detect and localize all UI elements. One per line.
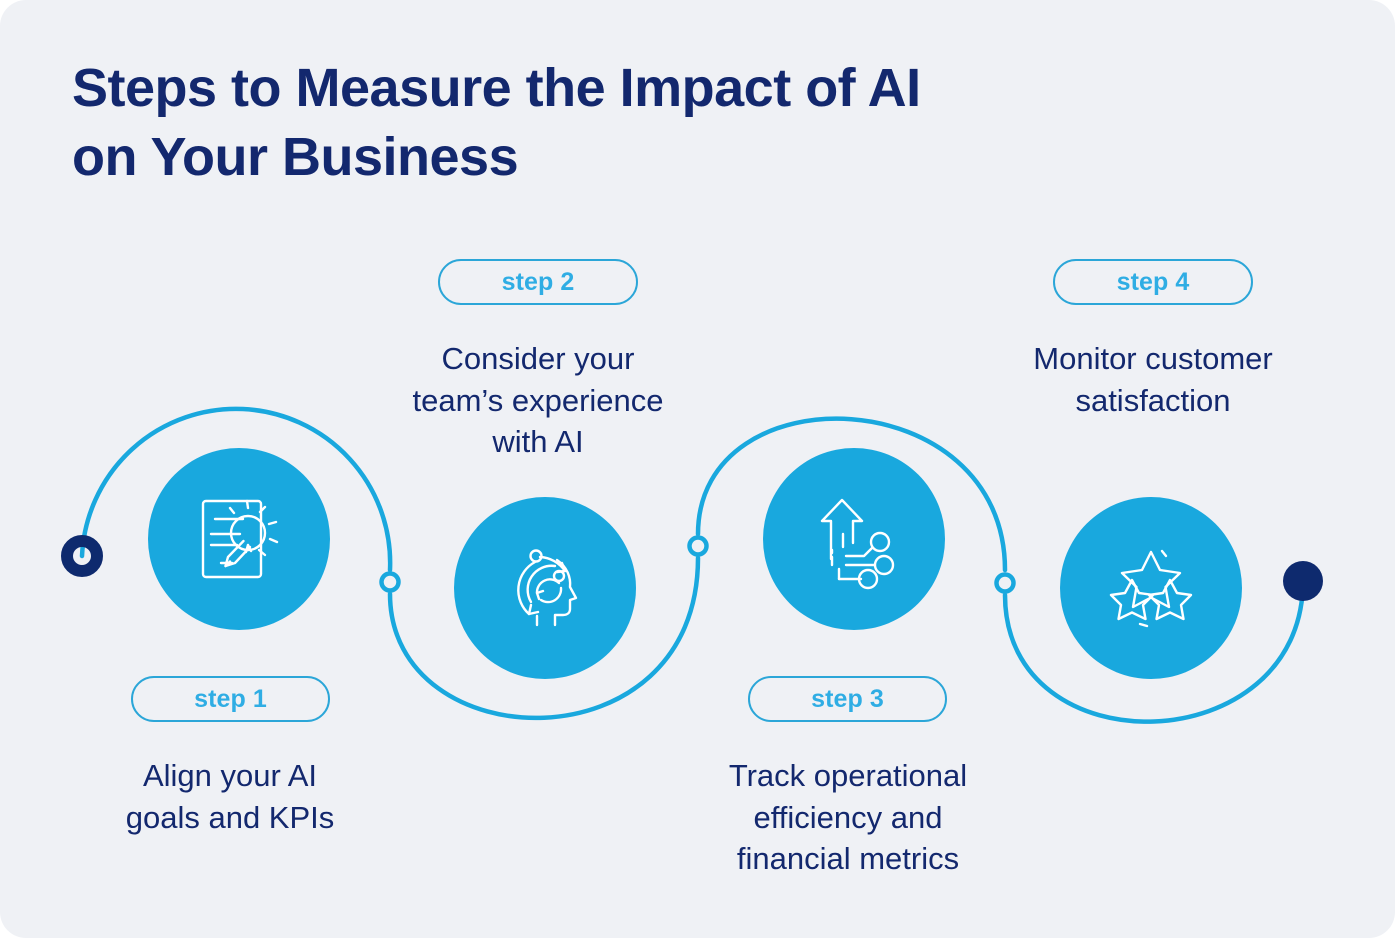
step-icon-circle-1[interactable] <box>148 448 330 630</box>
navy-filled-end-dot <box>1283 561 1323 601</box>
step-badge-3[interactable]: step 3 <box>748 676 947 722</box>
document-lightbulb-icon <box>187 487 291 591</box>
blue-ring-joint-1 <box>382 574 399 591</box>
blue-ring-joint-3 <box>997 575 1014 592</box>
page-title: Steps to Measure the Impact of AI on You… <box>72 54 1192 192</box>
step-badge-label-2: step 2 <box>502 270 575 295</box>
step-icon-circle-4[interactable] <box>1060 497 1242 679</box>
step-badge-label-4: step 4 <box>1117 270 1190 295</box>
step-badge-label-1: step 1 <box>194 687 267 712</box>
growth-arrow-circuit-icon <box>802 487 906 591</box>
step-description-4: Monitor customer satisfaction <box>968 338 1338 421</box>
three-stars-icon <box>1099 536 1203 640</box>
step-description-1: Align your AI goals and KPIs <box>55 755 405 838</box>
step-description-3: Track operational efficiency and financi… <box>668 755 1028 880</box>
blue-ring-joint-2 <box>690 538 707 555</box>
infographic-canvas: Steps to Measure the Impact of AI on You… <box>0 0 1395 938</box>
step-badge-4[interactable]: step 4 <box>1053 259 1253 305</box>
step-badge-label-3: step 3 <box>811 687 884 712</box>
step-icon-circle-2[interactable] <box>454 497 636 679</box>
step-badge-1[interactable]: step 1 <box>131 676 330 722</box>
step-badge-2[interactable]: step 2 <box>438 259 638 305</box>
head-cycle-ai-icon <box>493 536 597 640</box>
navy-ring-start-dot <box>67 541 97 571</box>
step-description-2: Consider your team’s experience with AI <box>363 338 713 463</box>
step-icon-circle-3[interactable] <box>763 448 945 630</box>
